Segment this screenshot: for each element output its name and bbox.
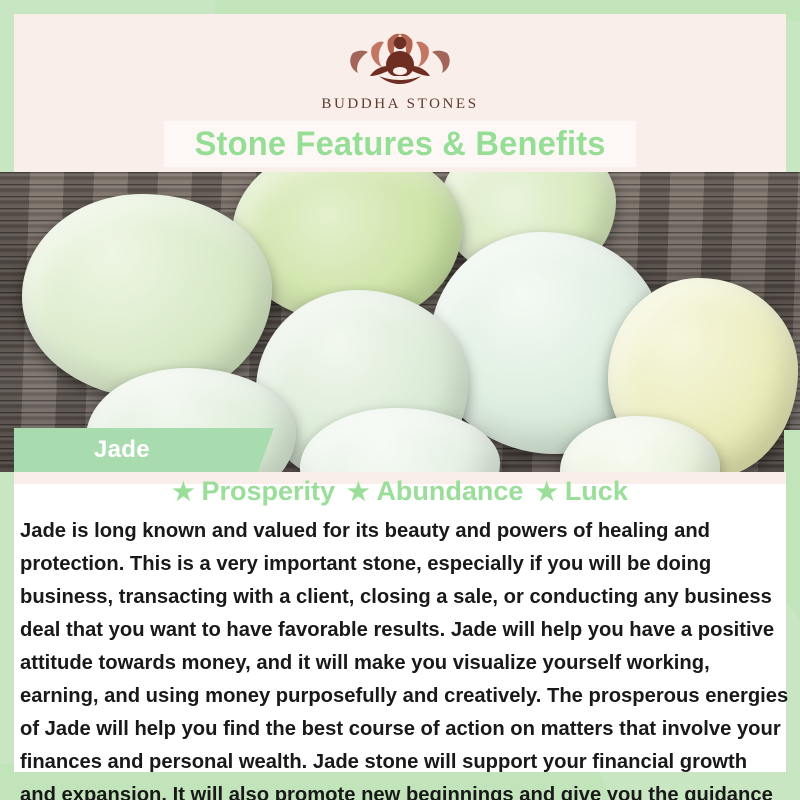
benefit-label: Abundance: [376, 476, 523, 506]
star-icon: ★: [172, 478, 201, 506]
brand-name: BUDDHA STONES: [321, 96, 478, 113]
stone-name-label: Jade: [94, 436, 150, 464]
title-banner: Stone Features & Benefits: [164, 121, 636, 167]
lotus-meditating-figure-icon: [334, 26, 466, 92]
page-title: Stone Features & Benefits: [194, 125, 605, 164]
stone-info-card: BUDDHA STONES Stone Features & Benefits …: [0, 0, 800, 800]
star-icon: ★: [535, 478, 564, 506]
description-section: ★ Prosperity★ Abundance★ Luck Jade is lo…: [14, 472, 786, 772]
description-text: Jade is long known and valued for its be…: [20, 514, 788, 800]
brand-logo-block: BUDDHA STONES: [0, 14, 800, 122]
benefits-list: ★ Prosperity★ Abundance★ Luck: [14, 476, 786, 507]
stone-name-band: Jade: [14, 428, 274, 472]
benefit-label: Luck: [565, 476, 628, 506]
stone-photo: [0, 172, 800, 472]
benefit-label: Prosperity: [202, 476, 336, 506]
star-icon: ★: [347, 478, 376, 506]
